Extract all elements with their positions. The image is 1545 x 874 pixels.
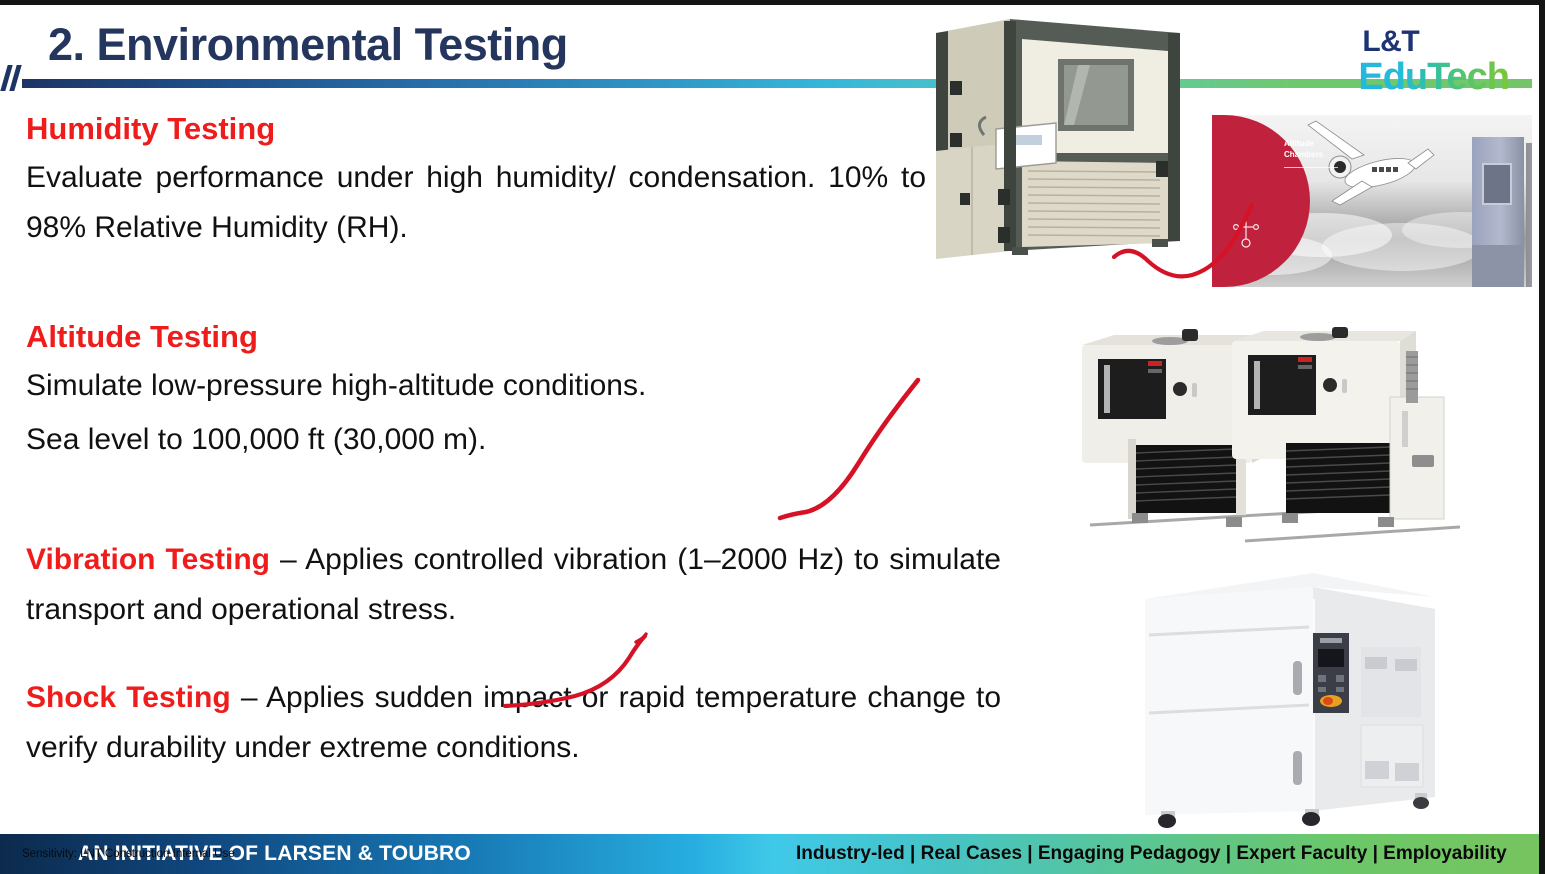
shock-heading: Shock Testing <box>26 681 231 714</box>
altitude-chambers-banner-image: Altitude Chambers <box>1212 115 1532 287</box>
humidity-heading: Humidity Testing <box>26 110 926 147</box>
altitude-body-line1: Simulate low-pressure high-altitude cond… <box>26 361 1006 411</box>
vibration-heading: Vibration Testing <box>26 543 270 576</box>
footer: AN INITIATIVE OF LARSEN & TOUBRO Sensiti… <box>0 834 1545 874</box>
altitude-heading: Altitude Testing <box>26 318 1006 355</box>
double-slash-accent-icon <box>0 65 28 91</box>
section-humidity: Humidity Testing Evaluate performance un… <box>26 110 926 257</box>
logo-lt-text: L&T <box>1362 27 1509 57</box>
humidity-body: Evaluate performance under high humidity… <box>26 153 926 253</box>
section-vibration: Vibration Testing – Applies controlled v… <box>26 535 1001 639</box>
altitude-body-line2: Sea level to 100,000 ft (30,000 m). <box>26 415 1006 465</box>
shock-paragraph: Shock Testing – Applies sudden impact or… <box>26 673 1001 773</box>
vibration-paragraph: Vibration Testing – Applies controlled v… <box>26 535 1001 635</box>
lnt-edutech-logo: L&T EduTech <box>1358 27 1509 96</box>
sensitivity-label: Sensitivity: LNT Construction Internal U… <box>22 848 235 860</box>
section-altitude: Altitude Testing Simulate low-pressure h… <box>26 318 1006 469</box>
tagline-text: Industry-led | Real Cases | Engaging Ped… <box>796 843 1507 865</box>
page-title: 2. Environmental Testing <box>48 19 568 71</box>
section-shock: Shock Testing – Applies sudden impact or… <box>26 673 1001 777</box>
footer-left-band: AN INITIATIVE OF LARSEN & TOUBRO Sensiti… <box>0 834 772 874</box>
slide: 2. Environmental Testing L&T EduTech Hum… <box>0 0 1545 874</box>
title-underline-gradient <box>22 79 1532 88</box>
footer-right-band: Industry-led | Real Cases | Engaging Ped… <box>772 834 1545 874</box>
shock-chamber-image <box>1115 565 1465 830</box>
humidity-chamber-image <box>928 11 1203 286</box>
logo-edutech-text: EduTech <box>1358 58 1509 96</box>
twin-chambers-image <box>1060 327 1460 547</box>
